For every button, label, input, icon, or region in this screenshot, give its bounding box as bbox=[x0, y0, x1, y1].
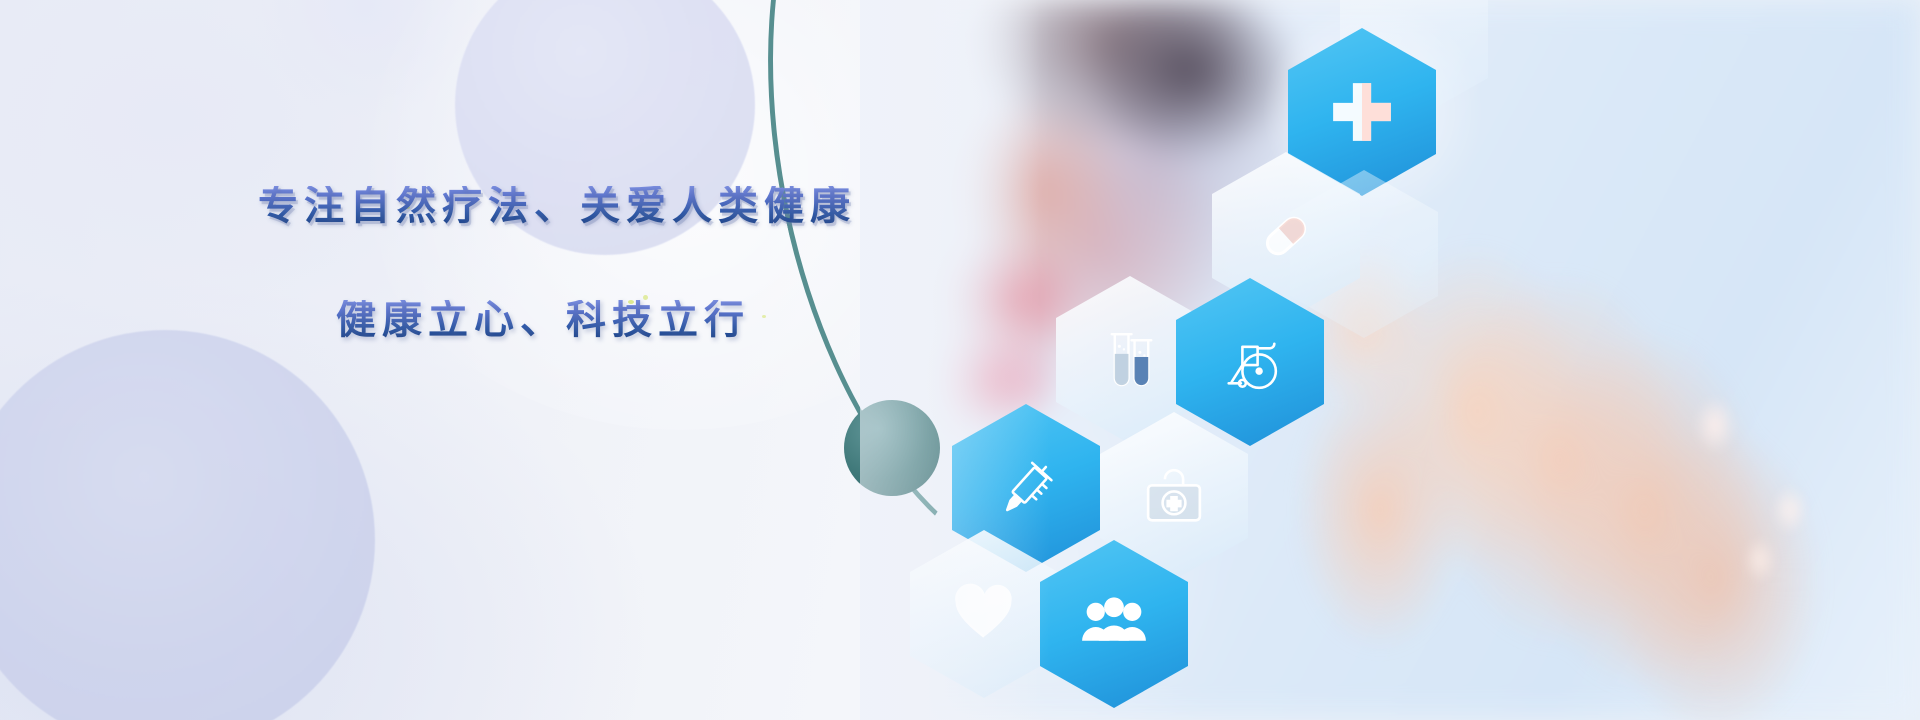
decorative-circle-bottom bbox=[0, 330, 375, 720]
headline-line-1-wrap: 专注自然疗法、关爱人类健康 专注自然疗法、关爱人类健康 bbox=[258, 186, 878, 226]
hero-banner: 专注自然疗法、关爱人类健康 专注自然疗法、关爱人类健康 健康立心、科技立行 bbox=[0, 0, 1920, 720]
medical-cross-icon bbox=[1324, 74, 1400, 150]
pill-capsule-icon bbox=[1248, 198, 1324, 274]
test-tubes-icon bbox=[1092, 322, 1168, 398]
headline-group: 专注自然疗法、关爱人类健康 专注自然疗法、关爱人类健康 健康立心、科技立行 bbox=[258, 186, 878, 340]
headline-line-2-wrap: 健康立心、科技立行 bbox=[258, 300, 878, 340]
people-group-icon bbox=[1076, 586, 1152, 662]
heart-icon bbox=[946, 576, 1022, 652]
headline-line-2: 健康立心、科技立行 bbox=[336, 300, 878, 340]
wheelchair-icon bbox=[1212, 324, 1288, 400]
syringe-icon bbox=[988, 450, 1064, 526]
hexagon-icon-cluster bbox=[860, 0, 1920, 720]
first-aid-kit-icon bbox=[1136, 458, 1212, 534]
headline-line-1: 专注自然疗法、关爱人类健康 bbox=[258, 186, 878, 226]
